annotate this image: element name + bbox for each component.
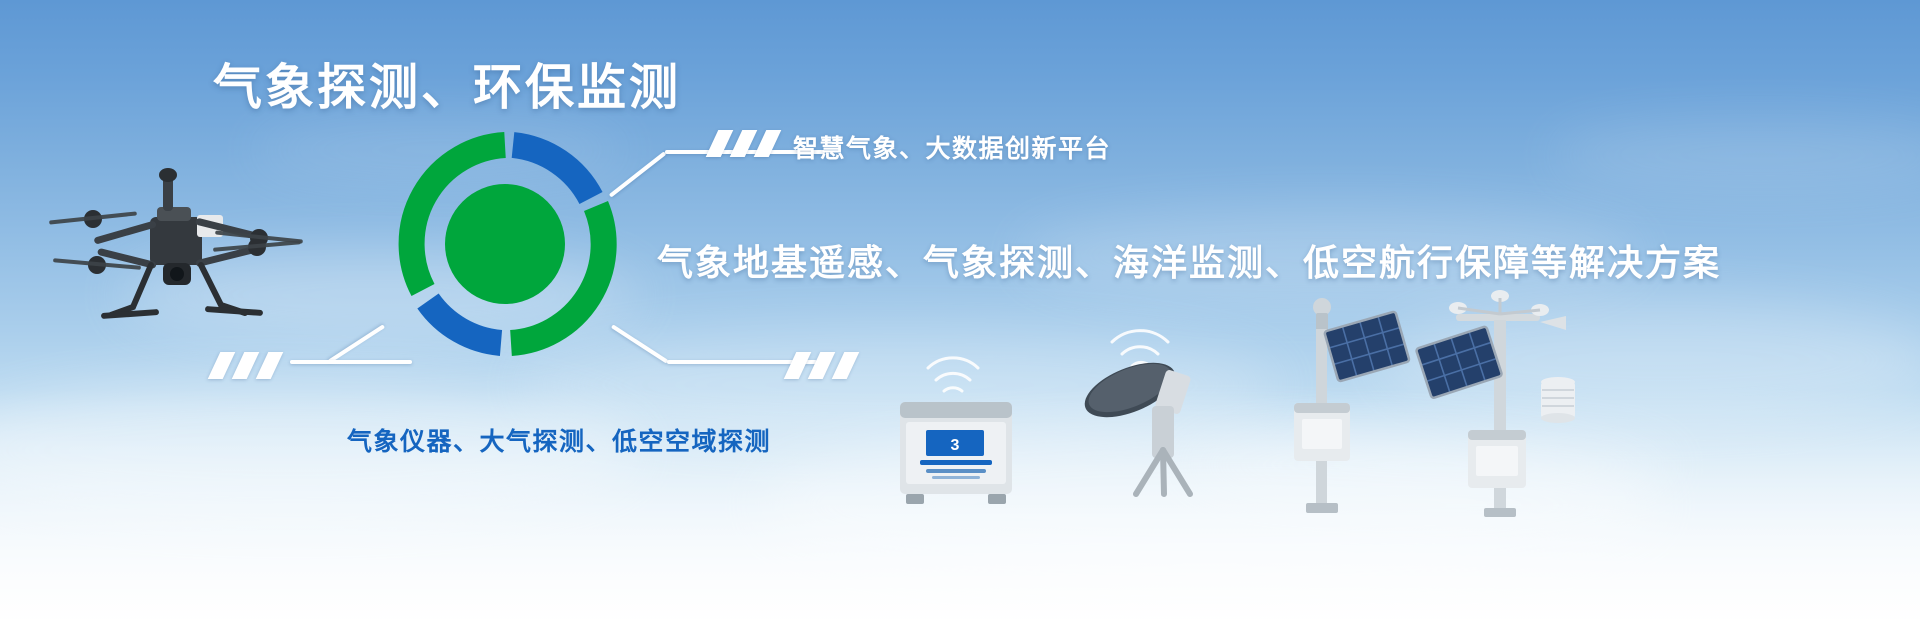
lidar-cabinet-photo: 3	[880, 310, 1060, 510]
slash-mark	[730, 130, 758, 157]
page-title: 气象探测、环保监测	[213, 48, 681, 119]
slash-mark	[256, 352, 284, 379]
satellite-dish-photo	[1060, 310, 1230, 500]
green-center-disc	[445, 184, 565, 304]
automatic-weather-station-photo	[1400, 270, 1590, 520]
cloud-decor	[1550, 120, 1920, 190]
slash-decor-bottom-right	[790, 352, 853, 379]
slash-mark	[208, 352, 236, 379]
slash-mark	[232, 352, 260, 379]
drone-photo	[45, 155, 305, 355]
slash-mark	[754, 130, 782, 157]
slash-decor-bottom-left	[214, 352, 277, 379]
connector-segment	[328, 324, 386, 363]
donut-ring-logo	[391, 130, 619, 358]
slash-mark	[832, 352, 860, 379]
weather-detection-banner: 气象探测、环保监测	[0, 0, 1920, 619]
slash-mark	[784, 352, 812, 379]
connector-segment	[290, 360, 412, 364]
svg-text:3: 3	[951, 437, 960, 454]
callout-bottom-left-text: 气象仪器、大气探测、低空空域探测	[347, 422, 771, 458]
connector-segment	[611, 324, 669, 363]
connector-top-right	[610, 168, 850, 228]
slash-mark	[706, 130, 734, 157]
callout-top-right-text: 智慧气象、大数据创新平台	[793, 129, 1111, 165]
slash-decor-top	[712, 130, 775, 157]
slash-mark	[808, 352, 836, 379]
blue-lower-left-arc	[428, 301, 501, 343]
